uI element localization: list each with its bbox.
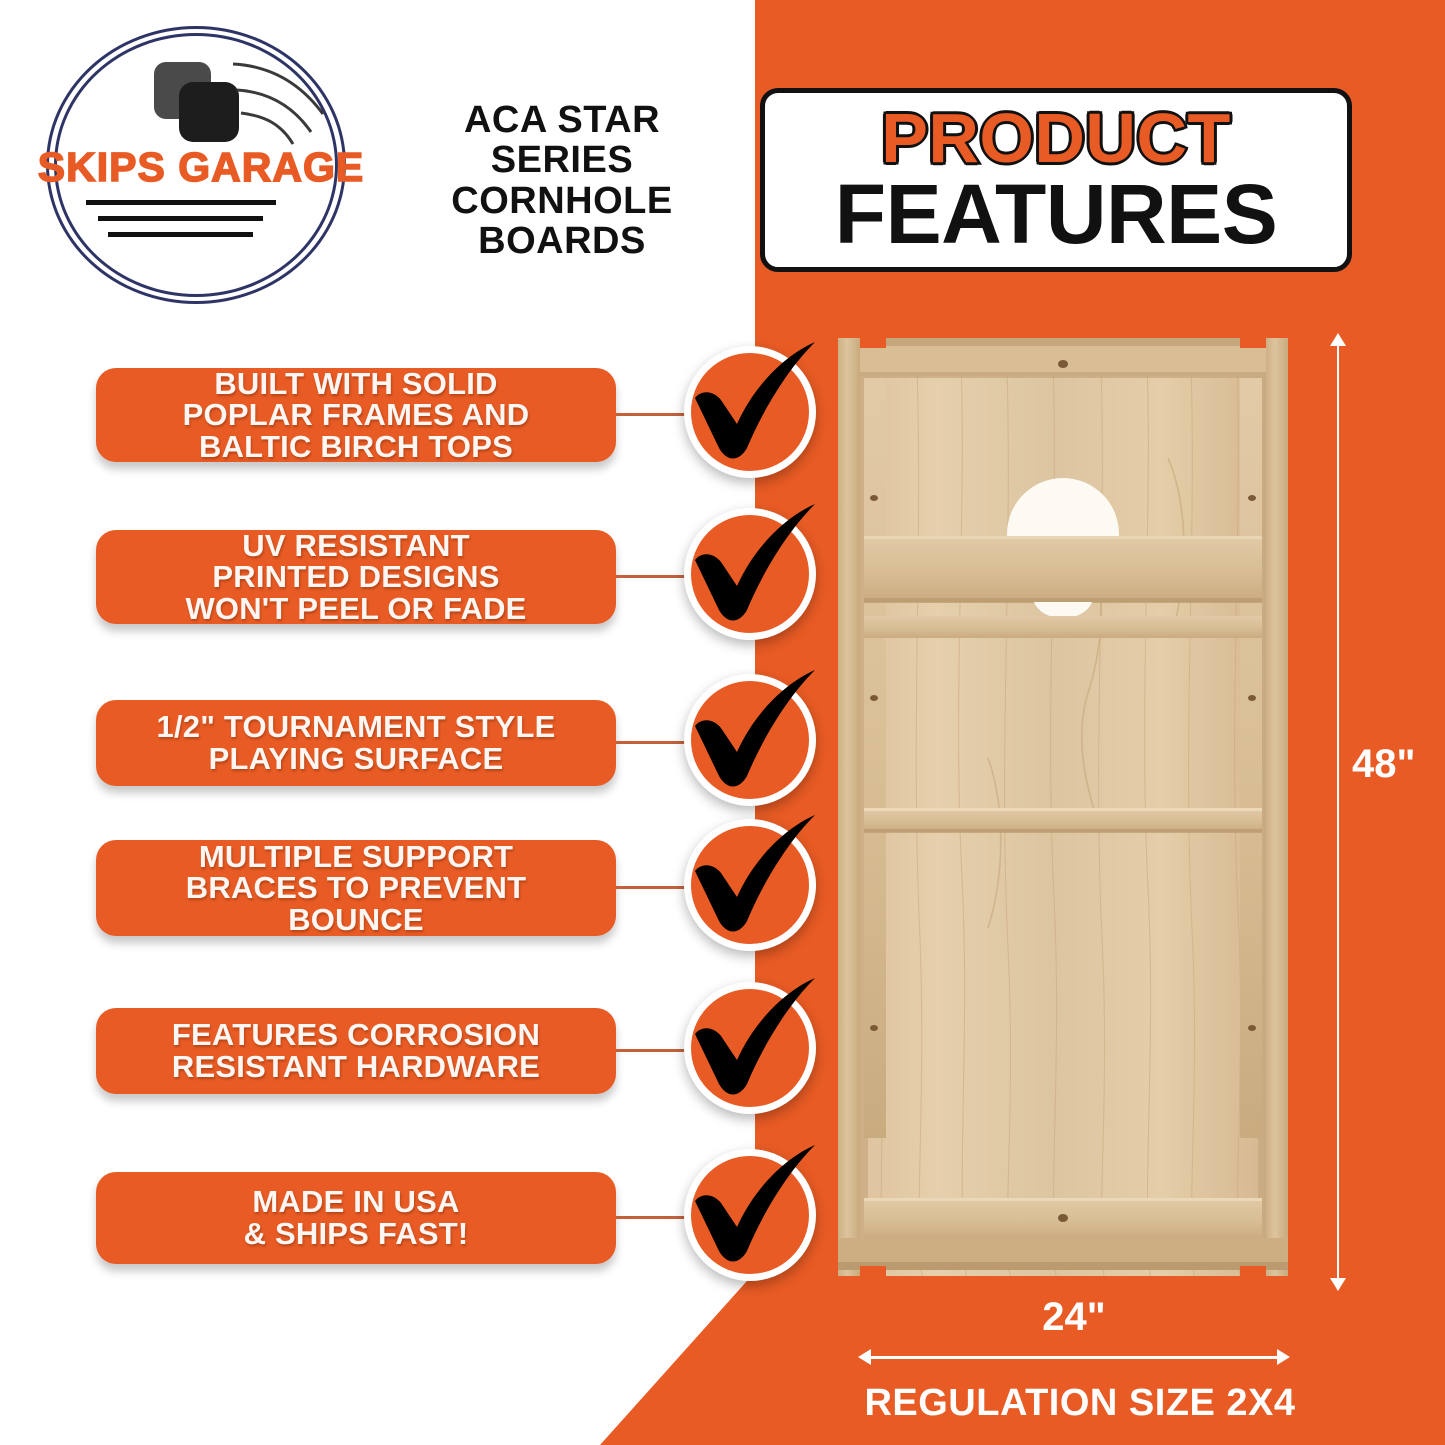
height-dimension-label: 48" xyxy=(1352,742,1415,787)
feature-pill-4[interactable]: MULTIPLE SUPPORT BRACES TO PREVENT BOUNC… xyxy=(96,840,616,936)
feature-check-circle-5 xyxy=(684,982,816,1114)
feature-pill-5-text: FEATURES CORROSION RESISTANT HARDWARE xyxy=(172,1019,540,1082)
height-dimension-line xyxy=(1337,340,1339,1290)
infographic-canvas: SKIPS GARAGE ACA STAR SERIES CORNHOLE BO… xyxy=(0,0,1445,1445)
feature-2-line-3: WON'T PEEL OR FADE xyxy=(185,593,526,625)
feature-5-line-1: FEATURES CORROSION xyxy=(172,1019,540,1051)
feature-5-line-2: RESISTANT HARDWARE xyxy=(172,1051,540,1083)
bean-bag-dark-icon xyxy=(179,82,239,142)
product-features-banner: PRODUCT FEATURES xyxy=(760,88,1352,272)
page-title-line-2: SERIES xyxy=(392,140,732,180)
width-arrow-right-icon xyxy=(1277,1349,1290,1365)
feature-pill-6-text: MADE IN USA & SHIPS FAST! xyxy=(244,1186,469,1249)
feature-3-line-2: PLAYING SURFACE xyxy=(157,743,556,775)
width-dimension-label: 24" xyxy=(866,1295,1282,1340)
banner-features-text: FEATURES xyxy=(835,174,1277,255)
feature-pill-4-text: MULTIPLE SUPPORT BRACES TO PREVENT BOUNC… xyxy=(186,841,526,936)
page-title-line-1: ACA STAR xyxy=(392,100,732,140)
feature-1-line-1: BUILT WITH SOLID xyxy=(183,368,530,400)
feature-pill-3[interactable]: 1/2" TOURNAMENT STYLE PLAYING SURFACE xyxy=(96,700,616,786)
feature-check-circle-2 xyxy=(684,508,816,640)
width-arrow-left-icon xyxy=(858,1349,871,1365)
logo-rule-1 xyxy=(86,200,276,205)
feature-1-line-3: BALTIC BIRCH TOPS xyxy=(183,431,530,463)
feature-pill-6[interactable]: MADE IN USA & SHIPS FAST! xyxy=(96,1172,616,1264)
feature-6-line-2: & SHIPS FAST! xyxy=(244,1218,469,1250)
feature-check-circle-1 xyxy=(684,346,816,478)
feature-pill-3-text: 1/2" TOURNAMENT STYLE PLAYING SURFACE xyxy=(157,711,556,774)
feature-4-line-1: MULTIPLE SUPPORT xyxy=(186,841,526,873)
feature-pill-1-text: BUILT WITH SOLID POPLAR FRAMES AND BALTI… xyxy=(183,368,530,463)
feature-pill-2-text: UV RESISTANT PRINTED DESIGNS WON'T PEEL … xyxy=(185,530,526,625)
feature-1-line-2: POPLAR FRAMES AND xyxy=(183,399,530,431)
feature-3-line-1: 1/2" TOURNAMENT STYLE xyxy=(157,711,556,743)
page-title-line-3: CORNHOLE xyxy=(392,181,732,221)
feature-pill-2[interactable]: UV RESISTANT PRINTED DESIGNS WON'T PEEL … xyxy=(96,530,616,624)
logo-wordmark: SKIPS GARAGE xyxy=(36,144,366,191)
height-arrow-bottom-icon xyxy=(1330,1278,1346,1291)
feature-6-line-1: MADE IN USA xyxy=(244,1186,469,1218)
width-dimension-line xyxy=(866,1356,1282,1359)
feature-4-line-3: BOUNCE xyxy=(186,904,526,936)
feature-2-line-1: UV RESISTANT xyxy=(185,530,526,562)
height-arrow-top-icon xyxy=(1330,333,1346,346)
logo-rule-2 xyxy=(98,216,263,221)
page-title: ACA STAR SERIES CORNHOLE BOARDS xyxy=(392,100,732,261)
regulation-size-note: REGULATION SIZE 2X4 xyxy=(830,1382,1330,1425)
feature-check-circle-4 xyxy=(684,819,816,951)
logo-rule-3 xyxy=(108,232,253,237)
feature-2-line-2: PRINTED DESIGNS xyxy=(185,561,526,593)
page-title-line-4: BOARDS xyxy=(392,221,732,261)
banner-product-text: PRODUCT xyxy=(881,105,1231,172)
brand-logo: SKIPS GARAGE xyxy=(36,16,366,316)
feature-pill-1[interactable]: BUILT WITH SOLID POPLAR FRAMES AND BALTI… xyxy=(96,368,616,462)
cornhole-board-back-view xyxy=(838,338,1288,1276)
feature-check-circle-6 xyxy=(684,1149,816,1281)
feature-pill-5[interactable]: FEATURES CORROSION RESISTANT HARDWARE xyxy=(96,1008,616,1094)
motion-arcs-icon xyxy=(231,60,331,150)
feature-4-line-2: BRACES TO PREVENT xyxy=(186,872,526,904)
feature-check-circle-3 xyxy=(684,674,816,806)
